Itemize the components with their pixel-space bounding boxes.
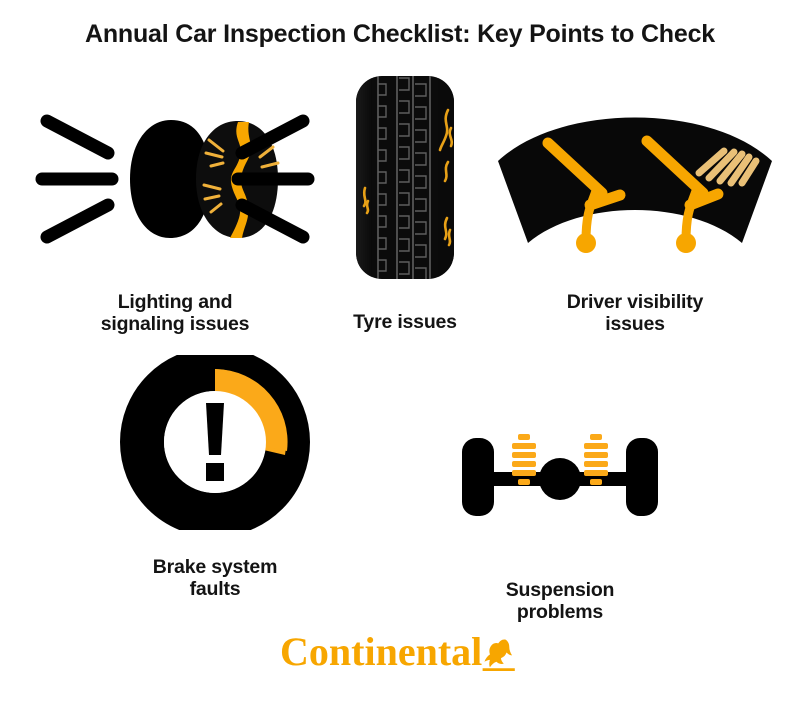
brake-disc-warning-icon (105, 355, 325, 535)
checklist-item-visibility: Driver visibility issues (490, 95, 780, 336)
caption-lighting: Lighting and signaling issues (30, 292, 320, 336)
caption-suspension: Suspension problems (450, 580, 670, 624)
headlight-icon (30, 95, 320, 270)
checklist-item-tyre: Tyre issues (320, 70, 490, 334)
wiper-right-pivot (676, 233, 696, 253)
exclamation-mark-icon (206, 403, 224, 481)
caption-visibility: Driver visibility issues (490, 292, 780, 336)
continental-wordmark: Continental (280, 630, 482, 674)
suspension-axle-icon (450, 420, 670, 535)
checklist-item-suspension: Suspension problems (450, 420, 670, 624)
differential-housing (539, 458, 581, 500)
wheel-right (626, 438, 658, 516)
caption-tyre: Tyre issues (320, 312, 490, 334)
tyre-icon (320, 70, 490, 290)
infographic-page: Annual Car Inspection Checklist: Key Poi… (0, 0, 800, 704)
wheel-left (462, 438, 494, 516)
continental-logo: Continental (0, 630, 800, 676)
left-rays-icon (42, 121, 112, 237)
windshield-wipers-icon (490, 95, 780, 270)
caption-brake: Brake system faults (105, 557, 325, 601)
wiper-left-pivot (576, 233, 596, 253)
rearing-horse-icon (483, 639, 515, 671)
page-title: Annual Car Inspection Checklist: Key Poi… (0, 20, 800, 49)
continental-logo-mark: Continental (280, 630, 520, 676)
checklist-item-lighting: Lighting and signaling issues (30, 95, 320, 336)
checklist-item-brake: Brake system faults (105, 355, 325, 601)
